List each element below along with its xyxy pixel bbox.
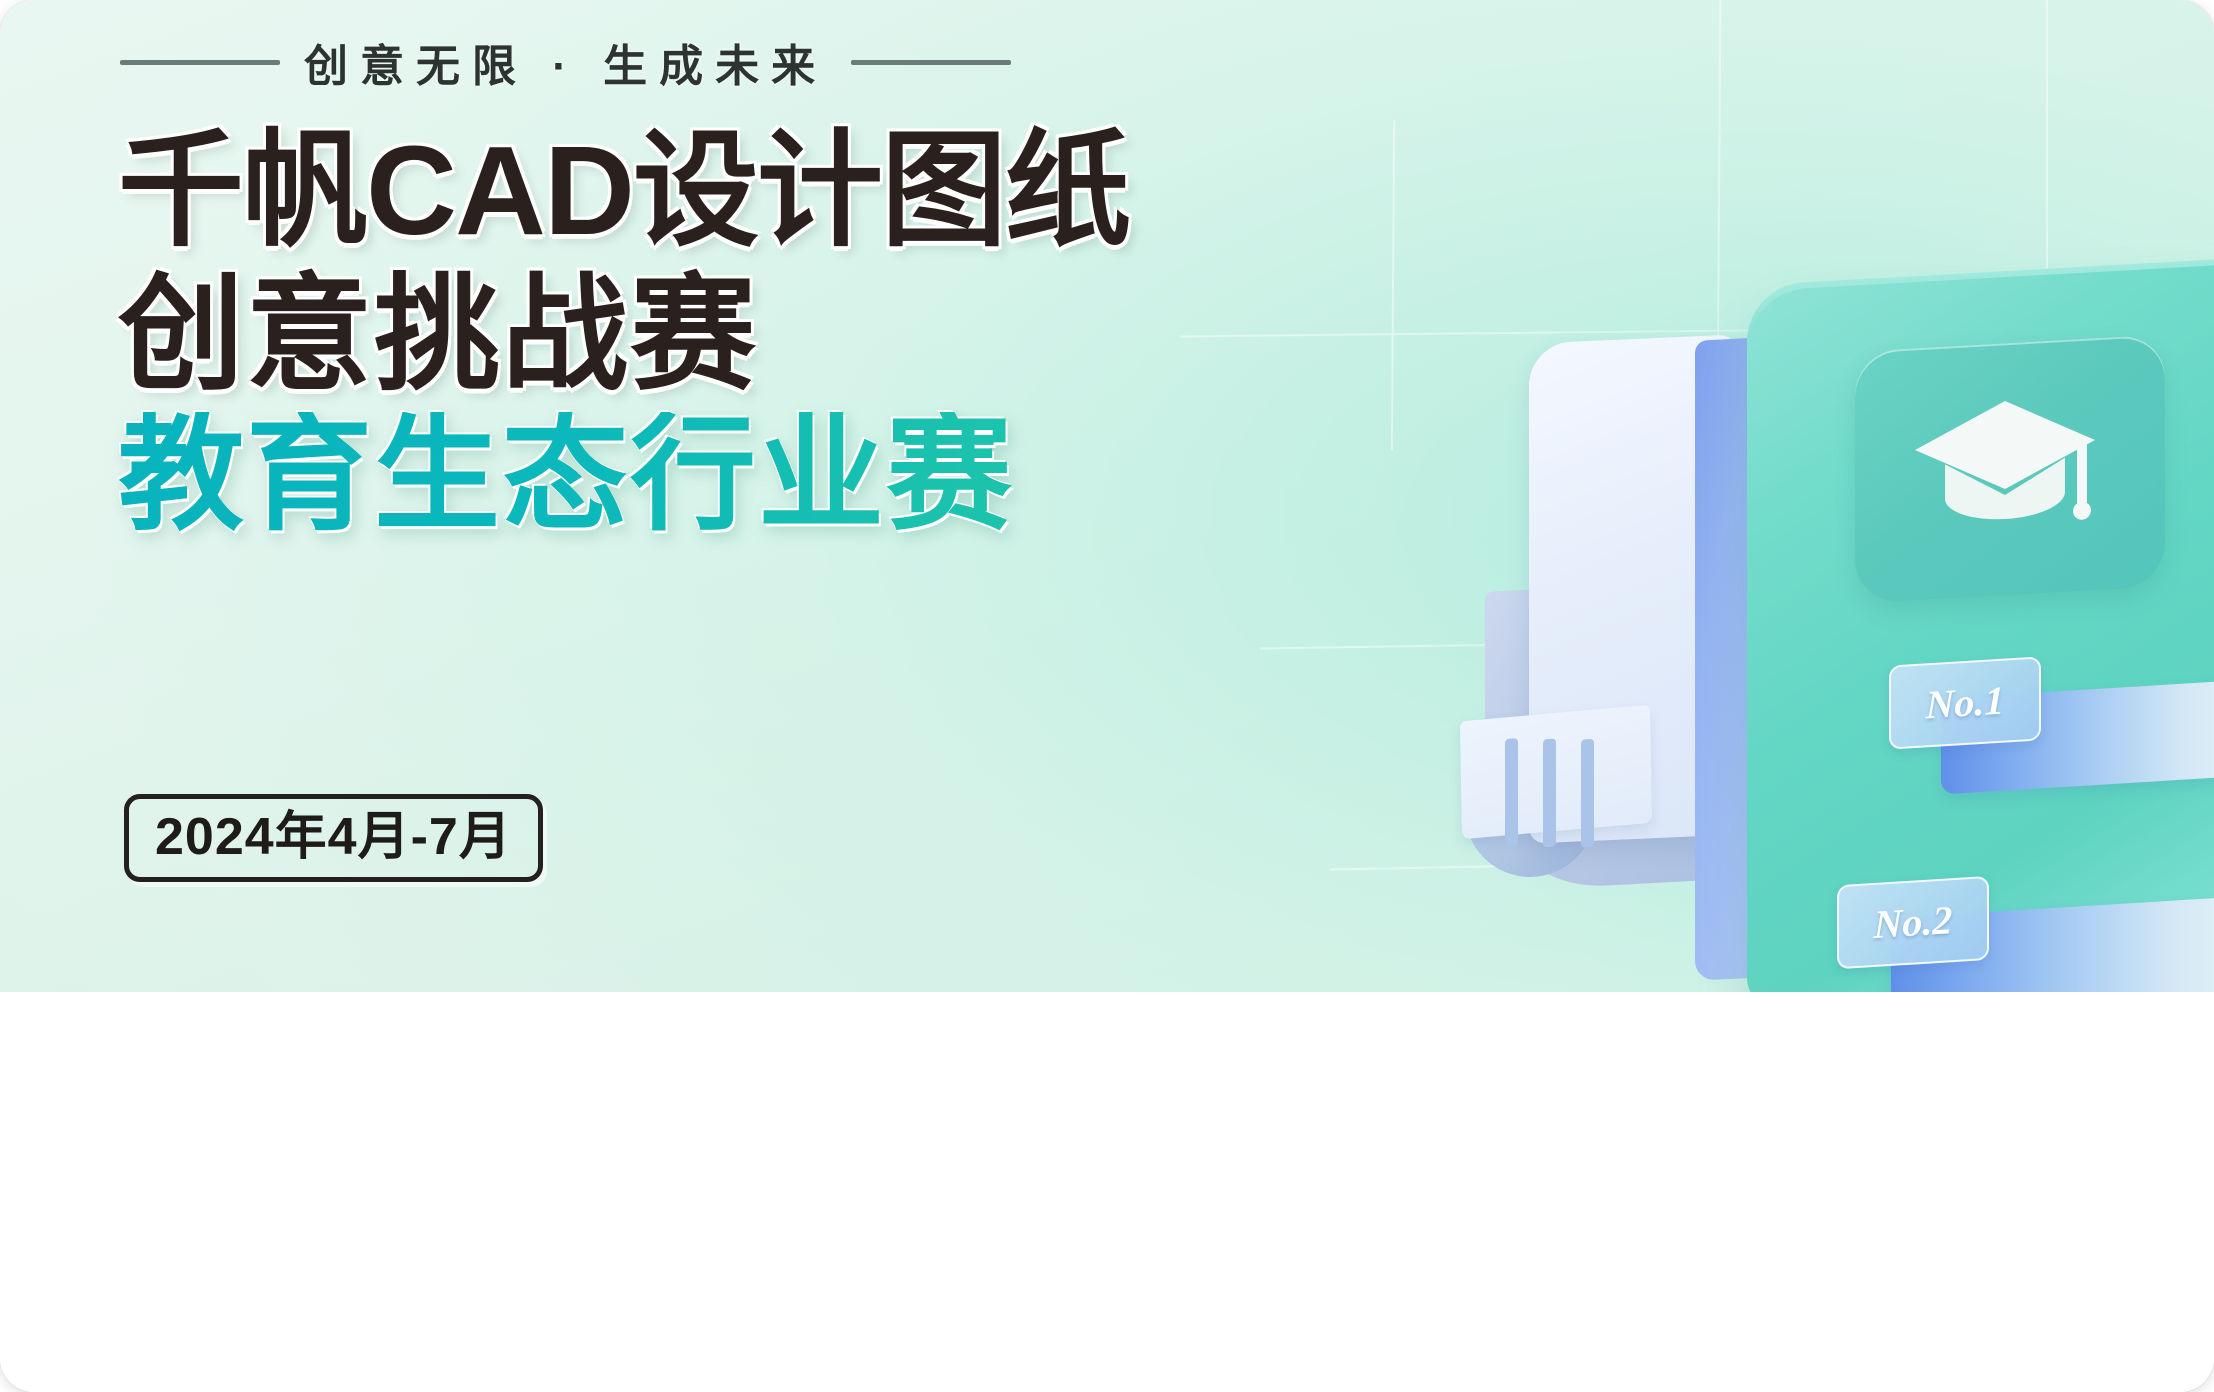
- tagline-rule-right: [851, 60, 1011, 65]
- ranking-label-2: No.2: [1874, 900, 1953, 945]
- ranking-tag-1: No.1: [1889, 656, 2041, 749]
- tagline-rule-left: [120, 60, 280, 65]
- headline-line-1: 千帆CAD设计图纸: [118, 128, 1518, 254]
- tagline-text: 创意无限 · 生成未来: [304, 30, 827, 94]
- headline-line-3: 教育生态行业赛: [118, 412, 1518, 538]
- graduation-cap-icon: [1905, 377, 2105, 548]
- content-area: [0, 992, 2214, 1392]
- banner-illustration: No.1 No.2: [1455, 255, 2214, 992]
- page-card: 创意无限 · 生成未来 千帆CAD设计图纸 创意挑战赛 教育生态行业赛 2024…: [0, 0, 2214, 1392]
- ranking-tag-2: No.2: [1837, 876, 1989, 969]
- event-date-text: 2024年4月-7月: [155, 808, 512, 866]
- ranking-label-1: No.1: [1926, 681, 2005, 726]
- headline-line-2: 创意挑战赛: [118, 272, 1518, 398]
- scroll-front-flap: [1460, 705, 1652, 839]
- banner-headlines: 千帆CAD设计图纸 创意挑战赛 教育生态行业赛: [118, 128, 1518, 538]
- promo-banner[interactable]: 创意无限 · 生成未来 千帆CAD设计图纸 创意挑战赛 教育生态行业赛 2024…: [0, 0, 2214, 992]
- event-date-badge: 2024年4月-7月: [124, 794, 543, 882]
- banner-tagline: 创意无限 · 生成未来: [120, 30, 1640, 94]
- ranking-row-1: No.1: [1863, 643, 2214, 817]
